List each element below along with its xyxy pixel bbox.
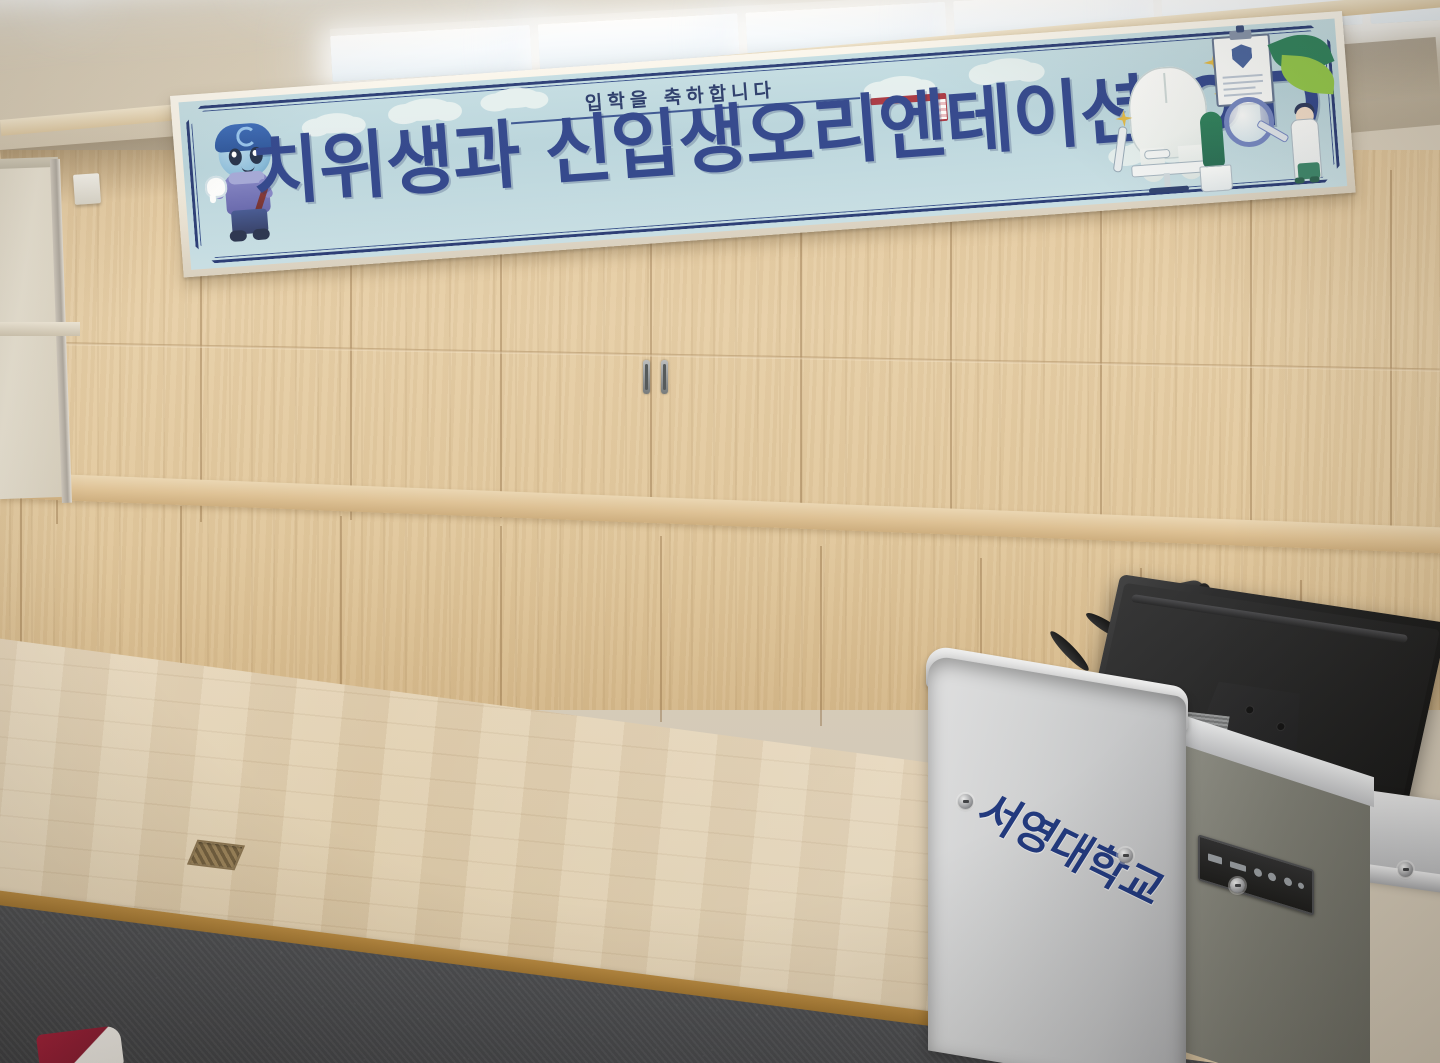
shield-icon	[1231, 44, 1253, 69]
dental-chair-base	[1149, 186, 1189, 194]
dental-chair-headrest	[1144, 149, 1171, 160]
lectern[interactable]: 서영대학교	[900, 560, 1440, 1063]
door-handle-right[interactable]	[661, 360, 668, 394]
dental-illustration-group	[1106, 26, 1334, 207]
auditorium-photo: 입학을 축하합니다 치위생과 신입생오리엔테이션(OT)	[0, 0, 1440, 1063]
mascot-shoe-left	[229, 230, 247, 242]
mascot-tooth-prop	[204, 175, 228, 199]
mascot-shoe-right	[252, 228, 270, 240]
projector-bracket	[73, 173, 101, 205]
potted-plant-pot	[1199, 164, 1233, 192]
tooth-cleft	[1163, 73, 1167, 103]
mounting-screw	[958, 794, 973, 809]
dentist-shoe-left	[1294, 177, 1304, 184]
mounting-screw	[1230, 878, 1245, 893]
dental-chair-arm	[1113, 126, 1128, 173]
clipboard-icon	[1212, 33, 1275, 107]
door-handle-left[interactable]	[643, 360, 650, 394]
mounting-screw	[1118, 848, 1133, 863]
dentist-shoe-right	[1309, 176, 1319, 183]
potted-plant-foliage	[1199, 111, 1225, 168]
window-sill	[0, 322, 80, 336]
clipboard-clip-top	[1236, 25, 1245, 33]
tooth-illustration	[1126, 64, 1211, 161]
mounting-screw	[1398, 862, 1413, 877]
